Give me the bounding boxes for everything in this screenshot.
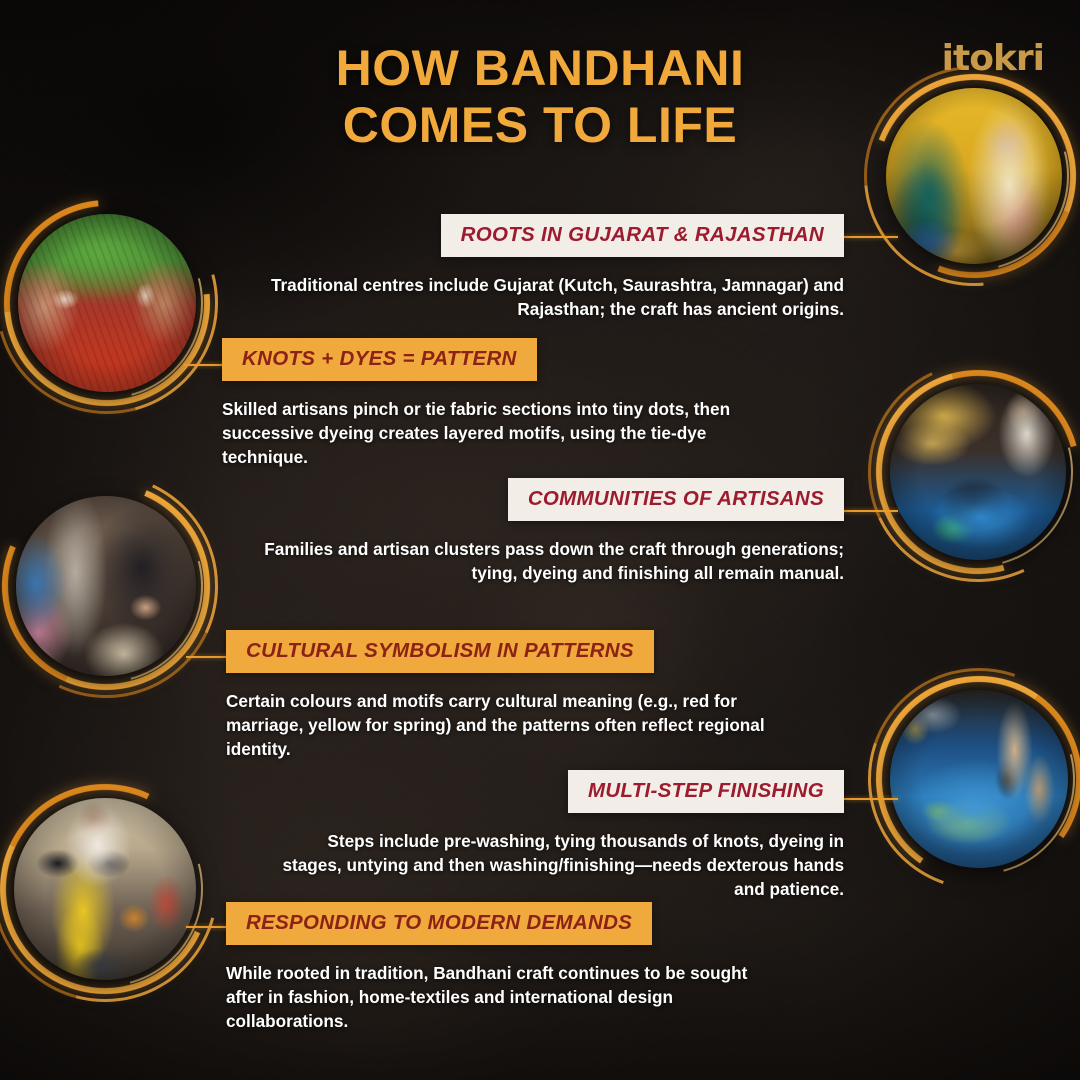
photo-roots-image [886,88,1062,264]
section-roots-heading: ROOTS IN GUJARAT & RAJASTHAN [441,214,844,257]
section-knots-heading: KNOTS + DYES = PATTERN [222,338,537,381]
photo-knots-image [18,214,196,392]
section-modern: RESPONDING TO MODERN DEMANDS While roote… [226,902,786,1033]
section-knots-body: Skilled artisans pinch or tie fabric sec… [222,397,782,469]
section-roots-body: Traditional centres include Gujarat (Kut… [250,273,844,321]
section-symbolism-body: Certain colours and motifs carry cultura… [226,689,786,761]
photo-modern [14,798,196,980]
photo-communities [890,384,1066,560]
section-knots: KNOTS + DYES = PATTERN Skilled artisans … [222,338,782,469]
connector-communities [842,510,898,512]
connector-roots [840,236,898,238]
section-symbolism: CULTURAL SYMBOLISM IN PATTERNS Certain c… [226,630,786,761]
section-roots: ROOTS IN GUJARAT & RAJASTHAN Traditional… [250,214,844,321]
section-communities-heading: COMMUNITIES OF ARTISANS [508,478,844,521]
section-modern-body: While rooted in tradition, Bandhani craf… [226,961,786,1033]
section-symbolism-heading: CULTURAL SYMBOLISM IN PATTERNS [226,630,654,673]
connector-modern [186,926,230,928]
section-communities: COMMUNITIES OF ARTISANS Families and art… [248,478,844,585]
section-communities-body: Families and artisan clusters pass down … [248,537,844,585]
section-finishing-heading: MULTI-STEP FINISHING [568,770,844,813]
photo-finishing [890,690,1068,868]
section-finishing: MULTI-STEP FINISHING Steps include pre-w… [280,770,844,901]
photo-finishing-image [890,690,1068,868]
section-modern-heading: RESPONDING TO MODERN DEMANDS [226,902,652,945]
photo-roots [886,88,1062,264]
section-finishing-body: Steps include pre-washing, tying thousan… [280,829,844,901]
photo-symbolism [16,496,196,676]
photo-symbolism-image [16,496,196,676]
photo-communities-image [890,384,1066,560]
photo-modern-image [14,798,196,980]
infographic-canvas: itokri HOW BANDHANI COMES TO LIFE [0,0,1080,1080]
connector-finishing [844,798,898,800]
photo-knots [18,214,196,392]
